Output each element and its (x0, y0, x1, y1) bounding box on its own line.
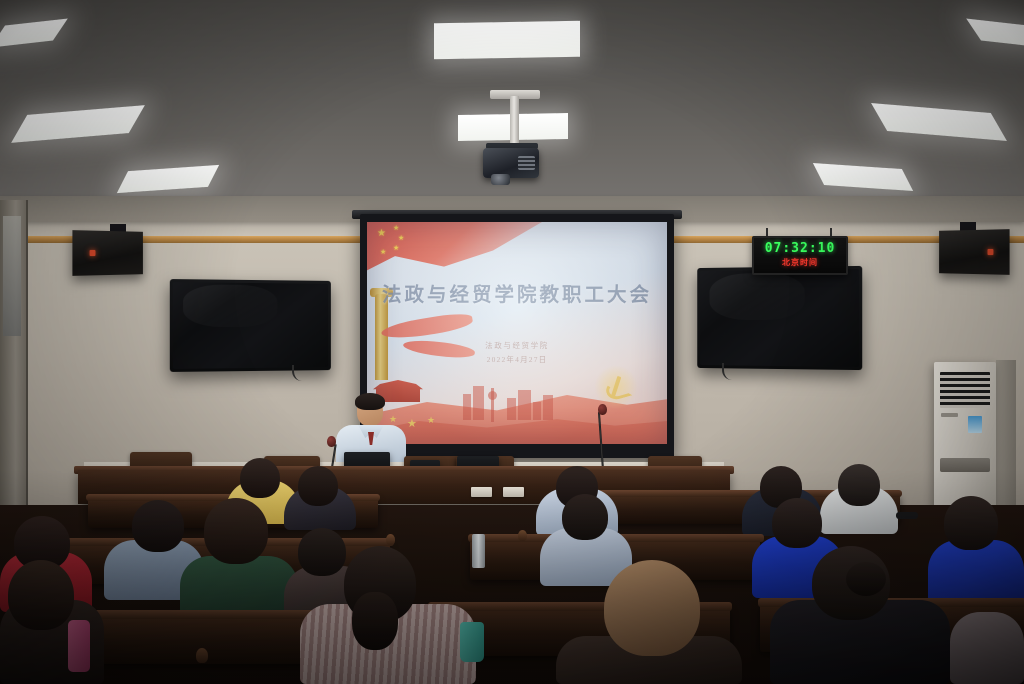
gold-star: ★ (427, 416, 435, 425)
ceiling-light-panel (117, 165, 219, 193)
slide-subtitle: 法政与经贸学院 (367, 340, 667, 351)
ac-control-panel[interactable] (940, 458, 990, 472)
ac-vent-louvers (940, 372, 990, 408)
audience-head (8, 560, 74, 630)
bench-knob (196, 648, 208, 663)
projection-screen: ★ ★ ★ ★ ★ ★ ★ ★ ★ 法政与经贸学院教职工大会 法政与经贸学院 2… (367, 222, 667, 444)
flag-star: ★ (393, 225, 399, 232)
ac-energy-label (968, 416, 982, 433)
flag-star: ★ (377, 230, 386, 237)
tv-screen-reflection (183, 285, 277, 328)
speaker-power-led (90, 250, 96, 256)
slide-date: 2022年4月27日 (367, 354, 667, 365)
water-bottle-teal[interactable] (460, 622, 484, 662)
flag-star: ★ (380, 249, 386, 256)
audience-head (132, 500, 184, 552)
hair-bun (846, 562, 886, 596)
ceiling-light-panel (966, 18, 1024, 47)
audience-torso (950, 612, 1024, 684)
tv-tower-sphere (488, 391, 497, 400)
side-door[interactable] (0, 200, 28, 530)
ceiling-light-panel (0, 18, 68, 47)
audience-head (604, 560, 700, 656)
wall-tv-right[interactable] (697, 266, 862, 370)
flag-star: ★ (393, 245, 399, 252)
projector-vent (518, 156, 535, 170)
city-skyline (473, 386, 484, 420)
audience-head (772, 498, 822, 548)
hair-bun (352, 592, 398, 650)
clock-time-display: 07:32:10 (754, 241, 846, 256)
conference-hall-photo: 07:32:10 北京时间 ★ ★ ★ ★ ★ ★ ★ ★ ★ (0, 0, 1024, 684)
clock-hanger (766, 228, 768, 236)
thermos-silver[interactable] (472, 534, 485, 568)
gold-star: ★ (407, 420, 417, 429)
gold-star: ★ (389, 415, 397, 424)
ceiling-light-panel (813, 163, 913, 191)
speaker-power-led (987, 249, 993, 255)
tv-screen-reflection (710, 273, 805, 320)
ac-brand-badge (941, 413, 958, 417)
ceiling-light-panel (871, 103, 1007, 141)
red-ribbon (380, 311, 474, 342)
audience-head (298, 466, 338, 506)
audience-head (838, 464, 880, 506)
podium-microphone-head (598, 404, 607, 415)
door-window-pane (3, 216, 21, 336)
ac-wall-column (996, 360, 1016, 516)
wall-speaker-right (939, 229, 1009, 275)
presenter-hair (355, 393, 385, 410)
party-emblem (603, 374, 629, 400)
ceiling-light-panel (434, 21, 580, 60)
city-skyline (543, 395, 553, 420)
podium-microphone-head (327, 436, 336, 447)
wall-tv-left[interactable] (170, 279, 331, 372)
flag-star: ★ (398, 235, 404, 242)
water-bottle-pink[interactable] (68, 620, 90, 672)
tv-cable-left (292, 365, 312, 381)
eyeglasses-icon (896, 512, 918, 519)
city-skyline (463, 394, 471, 420)
clock-hanger (830, 228, 832, 236)
city-skyline (533, 402, 541, 420)
audience-head (944, 496, 998, 550)
audience-head (240, 458, 280, 498)
audience-head (298, 528, 346, 576)
podium-nameplate (471, 487, 492, 497)
led-clock: 07:32:10 北京时间 (752, 236, 848, 275)
bench-knob (518, 530, 527, 541)
city-skyline (518, 390, 531, 420)
audience-head (204, 498, 268, 564)
projector-lens (491, 174, 510, 185)
city-skyline (507, 398, 516, 420)
clock-label: 北京时间 (754, 257, 846, 268)
podium-nameplate (503, 487, 524, 497)
ceiling-light-panel (11, 105, 145, 143)
bench-knob (386, 534, 395, 545)
tv-cable-right (722, 363, 744, 380)
audience-head (562, 494, 608, 540)
ceiling (0, 0, 1024, 205)
slide-title: 法政与经贸学院教职工大会 (367, 278, 667, 307)
floor-standing-ac[interactable] (934, 362, 996, 514)
wall-speaker-left (72, 230, 142, 276)
